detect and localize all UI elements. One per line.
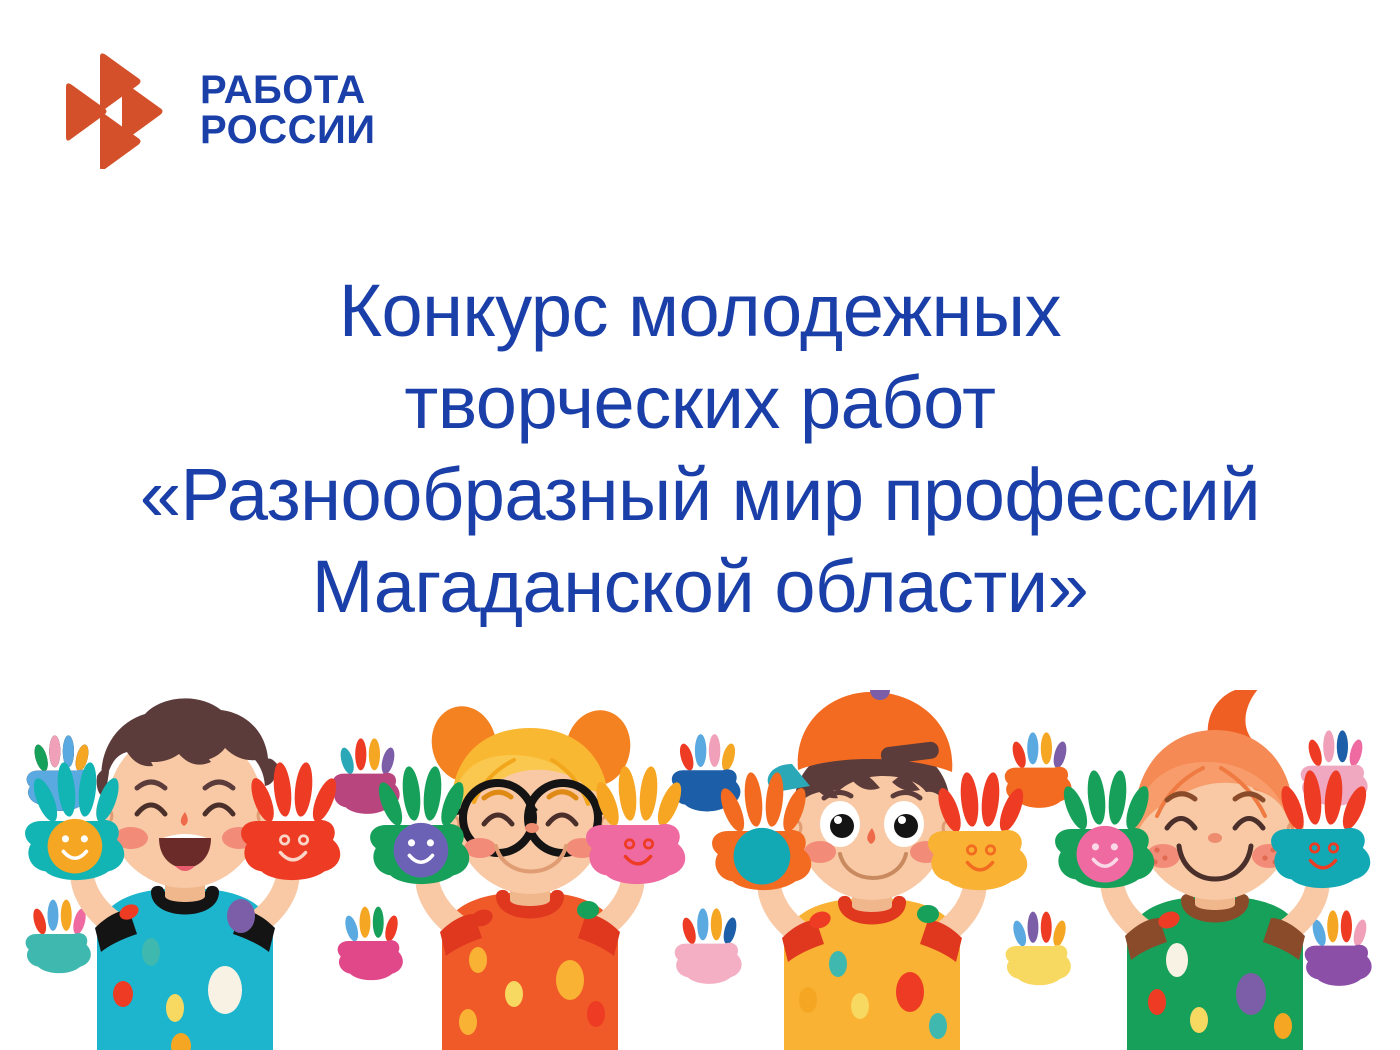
title-line-2: творческих работ (0, 357, 1400, 449)
page-title: Конкурс молодежных творческих работ «Раз… (0, 265, 1400, 633)
logo-wordmark: РАБОТА РОССИИ (200, 70, 376, 150)
child-figure (712, 690, 1028, 1050)
title-line-4: Магаданской области» (0, 541, 1400, 633)
handprint (675, 908, 742, 983)
children-illustration (0, 690, 1400, 1050)
logo-line-1: РАБОТА (200, 70, 376, 110)
logo-mark-triangles (60, 51, 178, 169)
child-figure (370, 700, 686, 1050)
title-line-3: «Разнообразный мир профессий (0, 449, 1400, 541)
logo-line-2: РОССИИ (200, 110, 376, 150)
handprint (1006, 912, 1071, 986)
handprint (338, 907, 403, 981)
rabota-rossii-logo: РАБОТА РОССИИ (60, 45, 480, 175)
handprint (1305, 910, 1372, 985)
handprint (26, 900, 91, 974)
title-line-1: Конкурс молодежных (0, 265, 1400, 357)
